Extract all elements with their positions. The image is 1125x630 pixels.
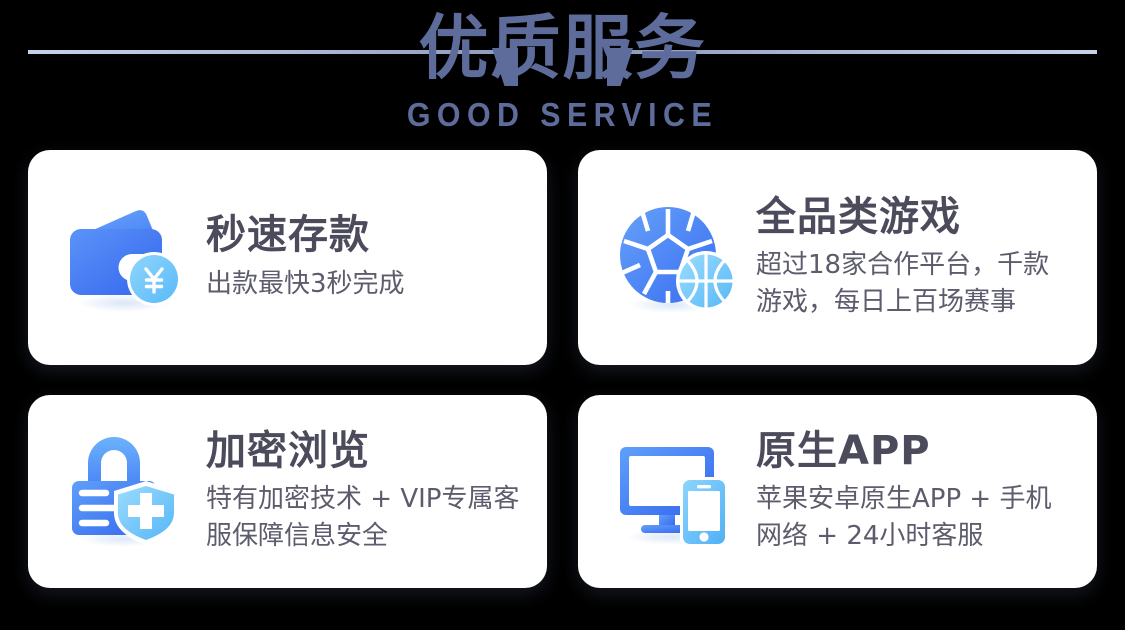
card-description: 苹果安卓原生APP + 手机网络 + 24小时客服 (756, 481, 1075, 555)
feature-card-native-app[interactable]: 原生APP 苹果安卓原生APP + 手机网络 + 24小时客服 (578, 395, 1097, 588)
card-text-block: 原生APP 苹果安卓原生APP + 手机网络 + 24小时客服 (756, 428, 1075, 555)
feature-card-encryption[interactable]: 加密浏览 特有加密技术 + VIP专属客服保障信息安全 (28, 395, 547, 588)
card-title: 秒速存款 (206, 212, 525, 259)
feature-card-grid: 秒速存款 出款最快3秒完成 (28, 150, 1097, 598)
card-text-block: 秒速存款 出款最快3秒完成 (206, 212, 525, 302)
card-description: 超过18家合作平台，千款游戏，每日上百场赛事 (756, 247, 1075, 321)
page-title: 优质服务 (0, 8, 1125, 89)
page-subtitle: GOOD SERVICE (45, 96, 1080, 134)
card-text-block: 加密浏览 特有加密技术 + VIP专属客服保障信息安全 (206, 428, 525, 555)
card-title: 原生APP (756, 428, 1075, 475)
monitor-phone-icon (612, 433, 740, 551)
card-description: 特有加密技术 + VIP专属客服保障信息安全 (206, 481, 525, 555)
lock-shield-icon (62, 433, 190, 551)
feature-card-deposit[interactable]: 秒速存款 出款最快3秒完成 (28, 150, 547, 365)
soccer-basketball-icon (612, 199, 740, 317)
wallet-yen-icon (62, 199, 190, 317)
promo-banner: 优质服务 GOOD SERVICE (0, 0, 1125, 630)
card-description: 出款最快3秒完成 (206, 266, 525, 303)
card-title: 加密浏览 (206, 428, 525, 475)
banner-header: 优质服务 GOOD SERVICE (0, 0, 1125, 145)
card-text-block: 全品类游戏 超过18家合作平台，千款游戏，每日上百场赛事 (756, 194, 1075, 321)
card-title: 全品类游戏 (756, 194, 1075, 241)
feature-card-games[interactable]: 全品类游戏 超过18家合作平台，千款游戏，每日上百场赛事 (578, 150, 1097, 365)
